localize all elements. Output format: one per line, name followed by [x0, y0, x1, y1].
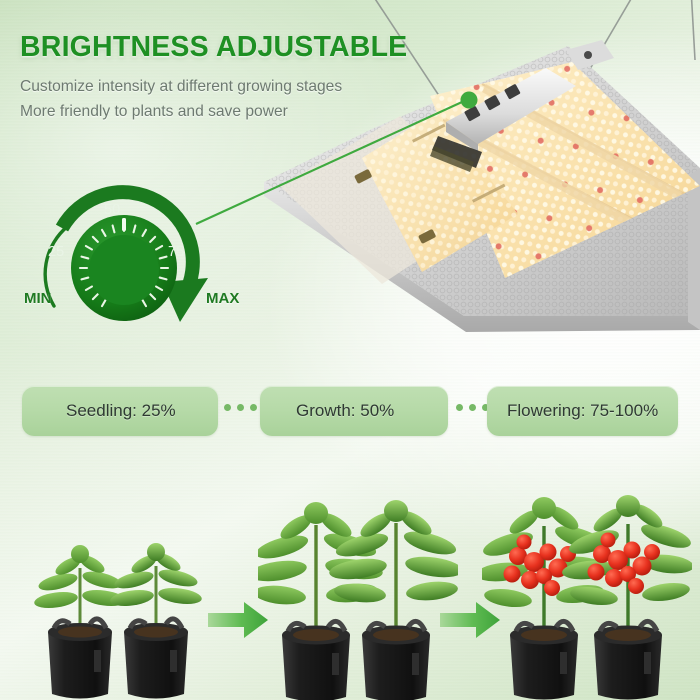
- stage-pill-growth[interactable]: Growth: 50%: [260, 386, 448, 436]
- stage-separator-dots-1: [224, 404, 257, 411]
- stage-pill-flowering-label: Flowering: 75-100%: [507, 401, 658, 421]
- stage-pill-seedling[interactable]: Seedling: 25%: [22, 386, 218, 436]
- stage-pill-growth-label: Growth: 50%: [296, 401, 394, 421]
- growth-stage-legend: Seedling: 25% Growth: 50% Flowering: 75-…: [0, 386, 700, 438]
- stage-pill-seedling-label: Seedling: 25%: [66, 401, 176, 421]
- infographic-canvas: BRIGHTNESS ADJUSTABLE Customize intensit…: [0, 0, 700, 700]
- stage-pill-flowering[interactable]: Flowering: 75-100%: [487, 386, 678, 436]
- subtitle-line-2: More friendly to plants and save power: [20, 99, 450, 124]
- page-title: BRIGHTNESS ADJUSTABLE: [20, 30, 450, 64]
- subtitle-line-1: Customize intensity at different growing…: [20, 74, 450, 99]
- stage-separator-dots-2: [456, 404, 489, 411]
- knob-marker-dot: [461, 92, 478, 109]
- headline-block: BRIGHTNESS ADJUSTABLE Customize intensit…: [20, 30, 450, 124]
